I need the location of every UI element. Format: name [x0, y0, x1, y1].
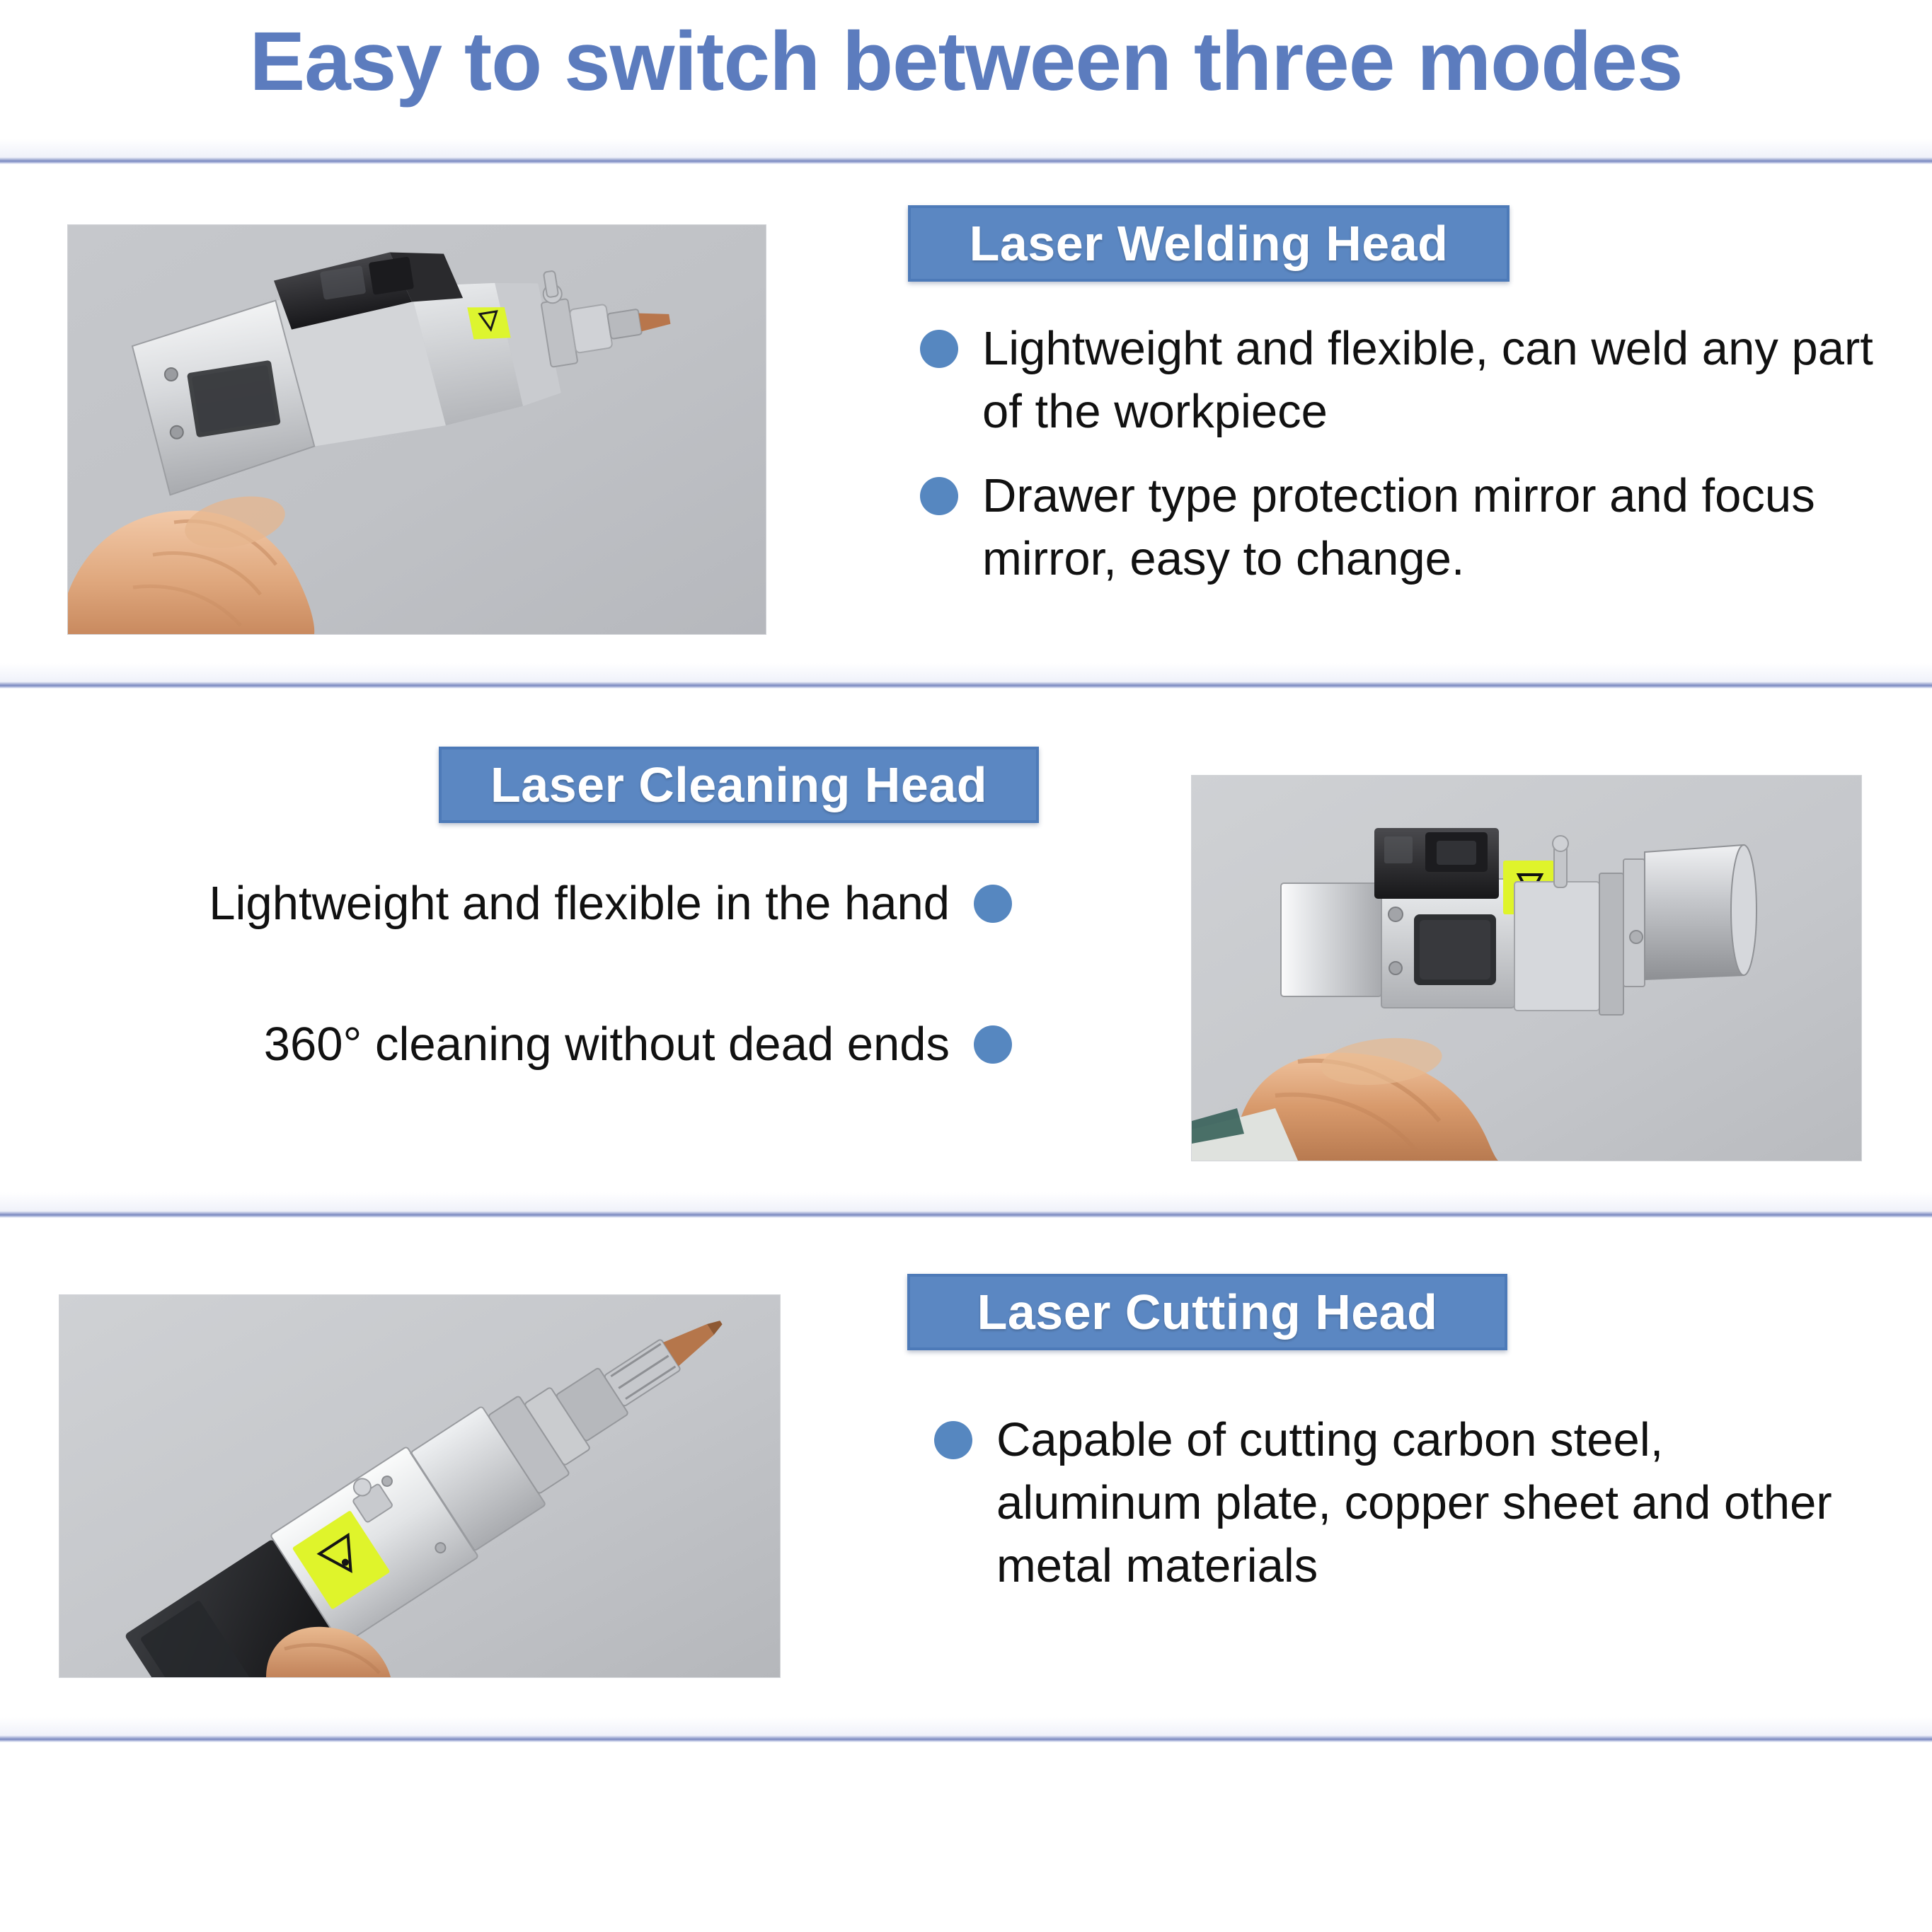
bullet-icon	[934, 1421, 972, 1459]
bullet-item: Drawer type protection mirror and focus …	[920, 464, 1890, 590]
bullet-item: Capable of cutting carbon steel, aluminu…	[934, 1408, 1875, 1597]
bullet-label: Lightweight and flexible, can weld any p…	[982, 317, 1890, 443]
page-title-container: Easy to switch between three modes	[0, 20, 1932, 103]
cleaning-head-heading-label: Laser Cleaning Head	[490, 757, 987, 813]
cutting-head-heading-pill: Laser Cutting Head	[907, 1274, 1507, 1350]
bullet-label: Lightweight and flexible in the hand	[209, 872, 950, 935]
welding-head-illustration	[68, 225, 766, 634]
section-divider-bottom	[0, 1735, 1932, 1742]
welding-head-bullet-list: Lightweight and flexible, can weld any p…	[920, 317, 1890, 611]
section-divider-1	[0, 682, 1932, 689]
bullet-label: Capable of cutting carbon steel, aluminu…	[996, 1408, 1875, 1597]
cleaning-head-photo	[1192, 776, 1861, 1161]
bullet-item: 360° cleaning without dead ends	[106, 1013, 1012, 1076]
cutting-head-photo	[59, 1295, 780, 1677]
cutting-head-illustration	[59, 1295, 780, 1677]
infographic-page: Easy to switch between three modes	[0, 0, 1932, 1932]
bullet-icon	[920, 330, 958, 368]
cutting-head-bullet-list: Capable of cutting carbon steel, aluminu…	[934, 1408, 1875, 1618]
cleaning-head-bullet-list: Lightweight and flexible in the hand 360…	[106, 872, 1012, 1097]
section-divider-top	[0, 157, 1932, 164]
section-divider-2	[0, 1211, 1932, 1218]
bullet-icon	[974, 885, 1012, 923]
bullet-item: Lightweight and flexible in the hand	[106, 872, 1012, 935]
cleaning-head-heading-pill: Laser Cleaning Head	[439, 747, 1039, 823]
bullet-icon	[974, 1025, 1012, 1064]
welding-head-heading-pill: Laser Welding Head	[908, 205, 1510, 282]
bullet-icon	[920, 477, 958, 515]
bullet-label: Drawer type protection mirror and focus …	[982, 464, 1890, 590]
cutting-head-heading-label: Laser Cutting Head	[977, 1284, 1438, 1340]
welding-head-heading-label: Laser Welding Head	[970, 215, 1449, 272]
welding-head-photo	[68, 225, 766, 634]
cleaning-head-illustration	[1192, 776, 1861, 1161]
bullet-item: Lightweight and flexible, can weld any p…	[920, 317, 1890, 443]
page-title: Easy to switch between three modes	[249, 20, 1682, 103]
bullet-label: 360° cleaning without dead ends	[264, 1013, 950, 1076]
